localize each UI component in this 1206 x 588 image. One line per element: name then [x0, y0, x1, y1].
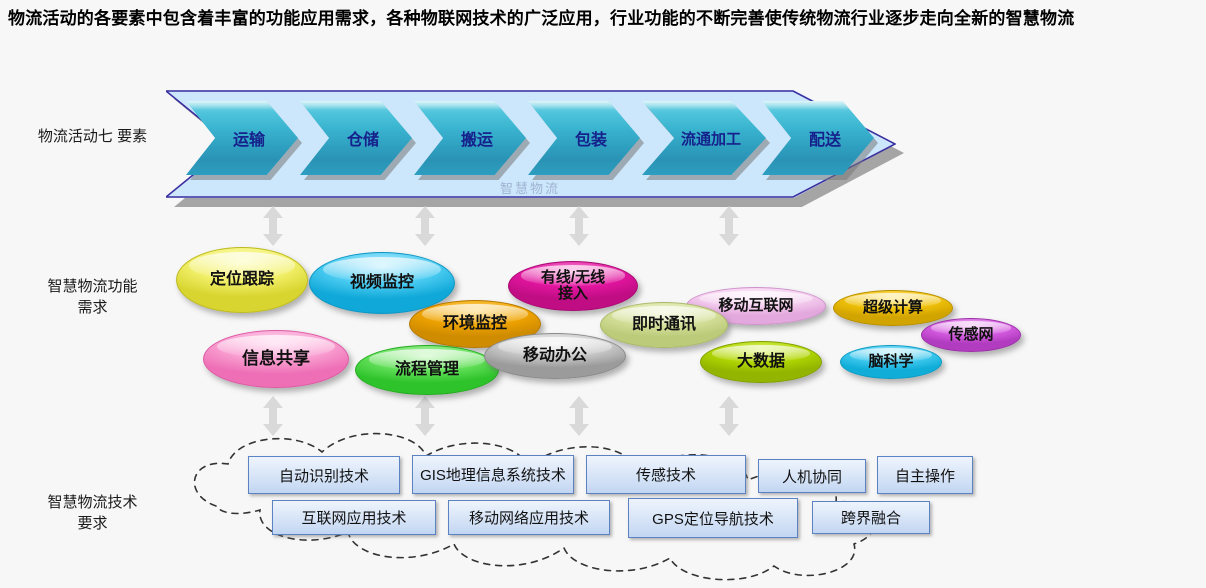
watermark-text: 智慧物流 [500, 178, 560, 197]
function-bubble-9[interactable]: 信息共享 [203, 330, 349, 388]
technology-box-label: 跨界融合 [841, 507, 901, 528]
function-bubble-11[interactable]: 移动办公 [484, 333, 626, 379]
technology-box-label: GIS地理信息系统技术 [420, 464, 566, 485]
function-bubble-label: 即时通讯 [632, 316, 696, 334]
function-bubble-label: 超级计算 [863, 300, 923, 317]
function-bubble-7[interactable]: 即时通讯 [600, 302, 728, 348]
technology-box-3[interactable]: 传感技术 [586, 455, 746, 494]
row-label-process: 物流活动七 要素 [10, 126, 175, 147]
technology-box-label: 自主操作 [895, 465, 955, 486]
connector-arrow-top-4 [718, 206, 740, 246]
function-bubble-label: 信息共享 [242, 350, 310, 369]
row-label-functions: 智慧物流功能 需求 [10, 276, 175, 318]
process-step-label: 包装 [528, 101, 640, 175]
process-step-2[interactable]: 仓储 [300, 101, 412, 175]
technology-box-label: GPS定位导航技术 [652, 508, 774, 529]
technology-box-9[interactable]: 跨界融合 [812, 501, 930, 534]
process-step-1[interactable]: 运输 [186, 101, 298, 175]
function-bubble-label: 移动互联网 [718, 298, 793, 315]
function-bubble-label: 流程管理 [395, 361, 459, 379]
technology-box-label: 自动识别技术 [279, 465, 369, 486]
technology-box-5[interactable]: 自主操作 [877, 456, 973, 494]
process-step-label: 仓储 [300, 101, 412, 175]
process-step-label: 配送 [762, 101, 874, 175]
technology-box-6[interactable]: 互联网应用技术 [272, 500, 436, 535]
function-bubble-label: 大数据 [737, 353, 785, 371]
process-step-label: 搬运 [414, 101, 526, 175]
function-bubble-12[interactable]: 大数据 [700, 341, 822, 383]
function-bubble-3[interactable]: 有线/无线 接入 [508, 261, 638, 311]
process-step-3[interactable]: 搬运 [414, 101, 526, 175]
page-title: 物流活动的各要素中包含着丰富的功能应用需求，各种物联网技术的广泛应用，行业功能的… [8, 6, 1188, 32]
technology-box-4[interactable]: 人机协同 [758, 459, 866, 493]
technology-box-label: 互联网应用技术 [301, 507, 406, 528]
process-step-label: 运输 [186, 101, 298, 175]
technology-box-7[interactable]: 移动网络应用技术 [448, 500, 610, 535]
technology-box-1[interactable]: 自动识别技术 [248, 456, 400, 494]
function-bubble-label: 传感网 [948, 327, 993, 344]
function-bubble-8[interactable]: 传感网 [921, 318, 1021, 352]
connector-arrow-top-1 [262, 206, 284, 246]
technology-box-2[interactable]: GIS地理信息系统技术 [412, 455, 574, 494]
connector-arrow-top-2 [414, 206, 436, 246]
function-bubble-13[interactable]: 脑科学 [840, 345, 942, 379]
function-bubble-10[interactable]: 流程管理 [355, 345, 499, 395]
process-step-4[interactable]: 包装 [528, 101, 640, 175]
row-label-technology: 智慧物流技术 要求 [10, 492, 175, 534]
technology-box-label: 人机协同 [782, 466, 842, 487]
process-step-5[interactable]: 流通加工 [642, 101, 766, 175]
function-bubble-1[interactable]: 定位跟踪 [176, 247, 308, 313]
process-step-6[interactable]: 配送 [762, 101, 874, 175]
function-bubble-label: 定位跟踪 [210, 271, 274, 289]
connector-arrow-top-3 [568, 206, 590, 246]
function-bubble-label: 移动办公 [523, 347, 587, 365]
technology-box-label: 传感技术 [636, 464, 696, 485]
technology-box-label: 移动网络应用技术 [469, 507, 589, 528]
function-bubble-label: 脑科学 [868, 354, 913, 371]
process-step-label: 流通加工 [642, 101, 766, 175]
technology-box-8[interactable]: GPS定位导航技术 [628, 498, 798, 538]
function-bubble-label: 视频监控 [350, 274, 414, 292]
function-bubble-label: 有线/无线 接入 [541, 270, 605, 303]
function-bubble-5[interactable]: 超级计算 [833, 290, 953, 326]
function-bubble-label: 环境监控 [443, 315, 507, 333]
